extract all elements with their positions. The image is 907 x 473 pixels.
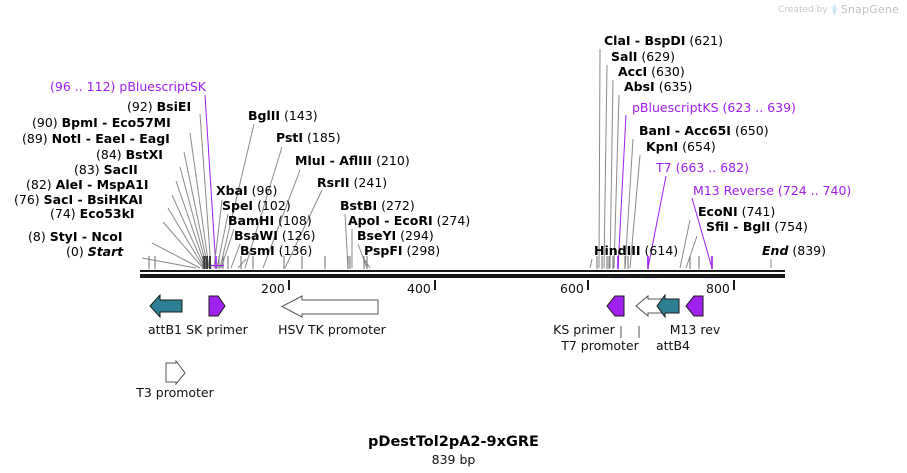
enzyme-label: SalI (629) [611,51,675,64]
axis-tick-400 [434,280,436,290]
enzyme-label: MluI - AflIII (210) [295,155,410,168]
axis-tick-800 [733,280,735,290]
feature-arrow-hsv-tk-promoter[interactable] [280,294,380,318]
primer-label-m13-reverse: M13 Reverse (724 .. 740) [693,185,851,198]
feature-label-attb4: attB4 [622,338,724,353]
enzyme-label: AbsI (635) [624,81,692,94]
axis-tick-600 [587,280,589,290]
enzyme-label: EcoNI (741) [698,206,775,219]
snapgene-logo-icon [831,4,838,16]
feature-arrow-sk-primer[interactable] [207,294,227,318]
snapgene-watermark: Created by SnapGene [778,3,899,16]
primer-label-pbluescriptsk: (96 .. 112) pBluescriptSK [50,81,206,94]
feature-label-hsv-tk-promoter: HSV TK promoter [258,322,406,337]
enzyme-label: (8) StyI - NcoI [28,231,123,244]
feature-label-m13-rev: M13 rev [655,322,735,337]
enzyme-label: KpnI (654) [646,141,716,154]
enzyme-label: BsaWI (126) [234,230,315,243]
primer-label-t7: T7 (663 .. 682) [656,162,749,175]
watermark-brand: SnapGene [841,3,899,16]
enzyme-label: BglII (143) [248,110,318,123]
enzyme-label: BanI - Acc65I (650) [639,125,769,138]
enzyme-label: BamHI (108) [228,215,312,228]
axis-label-600: 600 [560,281,584,296]
enzyme-label: SpeI (102) [222,200,291,213]
feature-label-sk-primer: SK primer [180,322,254,337]
enzyme-label: ClaI - BspDI (621) [604,35,723,48]
enzyme-label: AccI (630) [618,66,685,79]
enzyme-label: XbaI (96) [216,185,277,198]
enzyme-label: (90) BpmI - Eco57MI [32,117,171,130]
enzyme-label: BstBI (272) [340,200,415,213]
enzyme-label: ApoI - EcoRI (274) [348,215,470,228]
enzyme-label: (84) BstXI [96,149,163,162]
enzyme-label: (76) SacI - BsiHKAI [14,194,143,207]
axis-label-400: 400 [407,281,431,296]
enzyme-label: BseYI (294) [357,230,434,243]
leader-lines [0,0,907,473]
enzyme-label: (82) AleI - MspA1I [26,179,149,192]
axis-tick-200 [288,280,290,290]
feature-arrow-attb4[interactable] [655,293,681,319]
axis-label-800: 800 [706,281,730,296]
watermark-prefix: Created by [778,5,828,15]
enzyme-label: (74) Eco53kI [50,208,135,221]
enzyme-label: (83) SacII [74,164,138,177]
enzyme-label: SfiI - BglI (754) [706,221,808,234]
enzyme-label: PstI (185) [276,132,341,145]
feature-arrow-ks-primer[interactable] [604,294,626,318]
enzyme-label: (92) BsiEI [127,101,191,114]
feature-arrow-m13-rev[interactable] [683,294,705,318]
feature-arrow-attb1[interactable] [148,293,184,319]
enzyme-label: (89) NotI - EaeI - EagI [22,133,170,146]
primer-label-pbluescriptks: pBluescriptKS (623 .. 639) [632,102,796,115]
plasmid-size: 839 bp [0,452,907,467]
plasmid-title: pDestTol2pA2-9xGRE [0,434,907,450]
feature-arrow-t3-promoter[interactable] [163,360,187,386]
enzyme-label: RsrII (241) [317,177,387,190]
feature-label-t3-promoter: T3 promoter [126,385,224,400]
